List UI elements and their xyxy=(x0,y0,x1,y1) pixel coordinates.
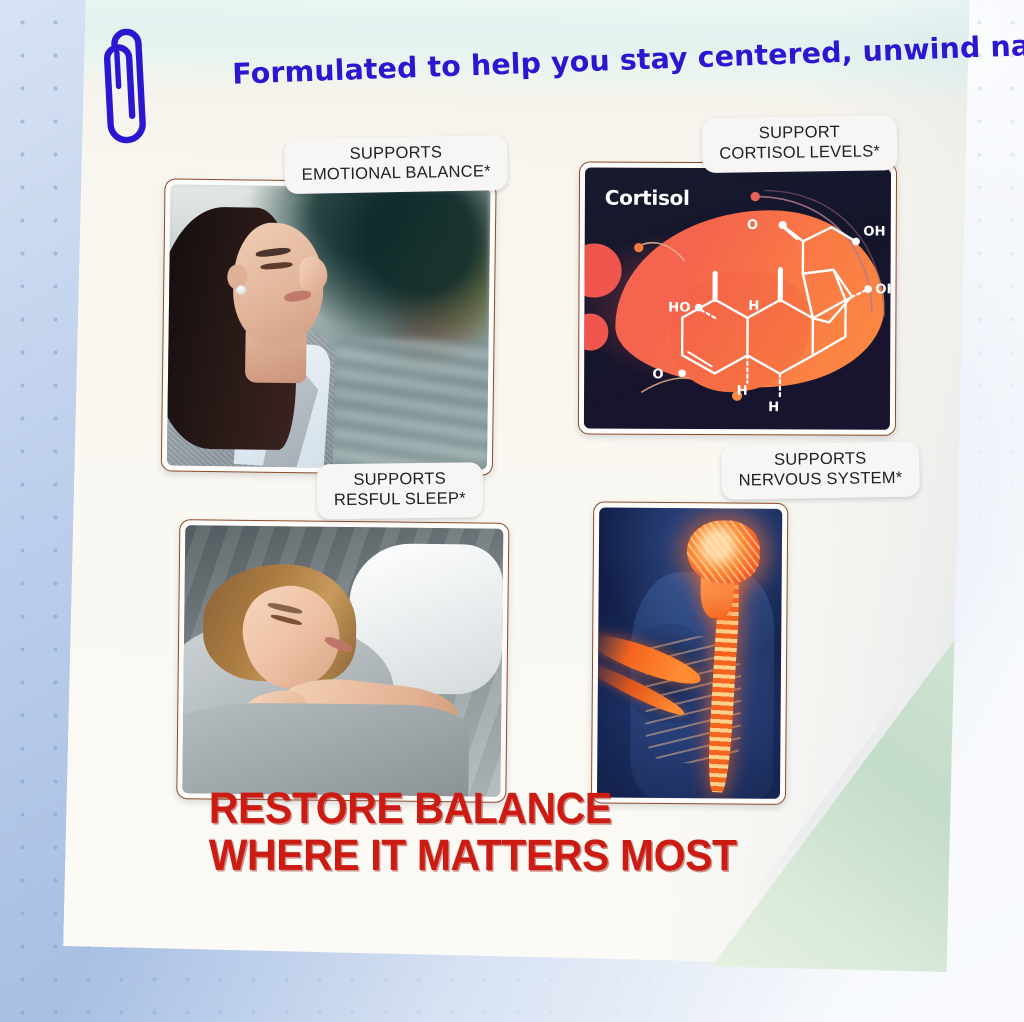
benefit-card-emotional-balance[interactable] xyxy=(161,178,497,475)
benefit-card-cortisol-levels[interactable]: O OH OH HO O H H H Cortisol xyxy=(578,161,897,435)
badge-line-1: SUPPORT xyxy=(759,123,840,142)
svg-text:O: O xyxy=(747,218,758,233)
footer-headline-line-2: WHERE IT MATTERS MOST xyxy=(209,832,737,879)
status-badge-restful-sleep: SUPPORTS RESFUL SLEEP* xyxy=(317,462,484,519)
svg-text:HO: HO xyxy=(668,301,690,316)
badge-line-1: SUPPORTS xyxy=(349,143,442,163)
badge-line-2: EMOTIONAL BALANCE* xyxy=(302,162,491,183)
svg-text:H: H xyxy=(748,299,759,314)
photo-emotional-balance xyxy=(167,184,491,469)
photo-nervous-system xyxy=(597,507,782,798)
paperclip-icon xyxy=(88,26,167,160)
badge-line-2: NERVOUS SYSTEM* xyxy=(738,469,902,490)
status-badge-nervous-system: SUPPORTS NERVOUS SYSTEM* xyxy=(721,442,920,500)
paper-sheet: Formulated to help you stay centered, un… xyxy=(62,0,970,1012)
brain-icon xyxy=(686,520,760,584)
stairs-background xyxy=(333,338,490,469)
svg-text:H: H xyxy=(737,384,748,399)
lower-bedding xyxy=(182,702,469,797)
badge-line-1: SUPPORTS xyxy=(774,449,867,469)
cortisol-panel-title: Cortisol xyxy=(605,186,690,210)
badge-line-2: RESFUL SLEEP* xyxy=(334,489,466,509)
svg-text:OH: OH xyxy=(863,225,885,240)
benefit-card-restful-sleep[interactable] xyxy=(176,519,509,803)
benefit-card-nervous-system[interactable] xyxy=(591,501,788,805)
badge-line-2: CORTISOL LEVELS* xyxy=(719,142,880,162)
photo-restful-sleep xyxy=(182,525,503,797)
badge-line-1: SUPPORTS xyxy=(353,470,446,489)
photo-cortisol-panel: O OH OH HO O H H H Cortisol xyxy=(584,167,891,429)
status-badge-emotional-balance: SUPPORTS EMOTIONAL BALANCE* xyxy=(284,135,508,194)
svg-text:OH: OH xyxy=(875,282,891,297)
footer-headline-line-1: RESTORE BALANCE xyxy=(209,786,737,833)
svg-text:H: H xyxy=(768,400,779,415)
status-badge-cortisol-levels: SUPPORT CORTISOL LEVELS* xyxy=(702,115,898,172)
footer-headline: RESTORE BALANCE WHERE IT MATTERS MOST xyxy=(209,786,777,880)
svg-text:O: O xyxy=(652,367,663,382)
earring-icon xyxy=(236,285,246,294)
